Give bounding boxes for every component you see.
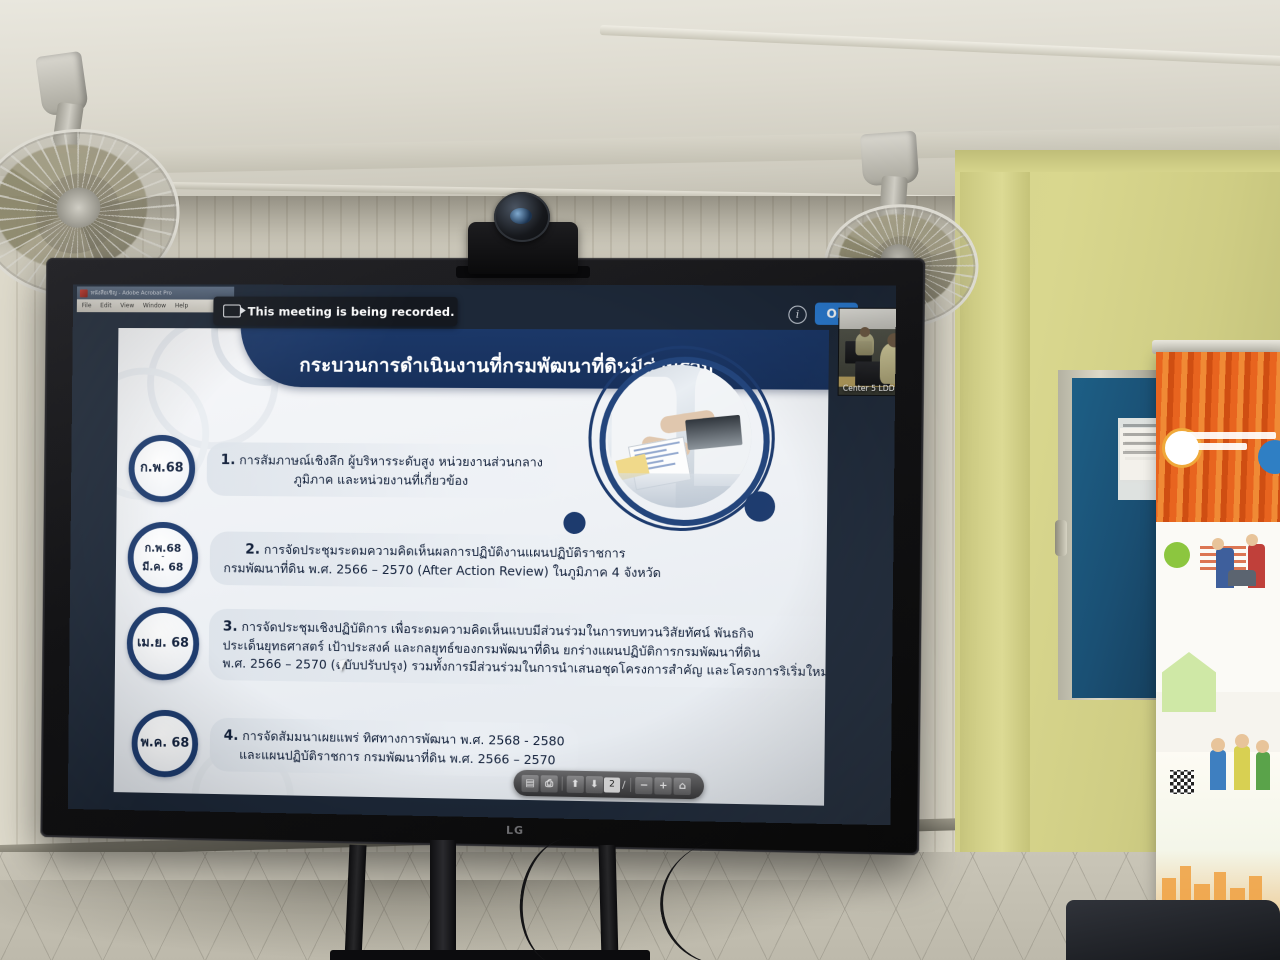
acrobat-title-bar: หนังสือเชิญ - Adobe Acrobat Pro bbox=[77, 286, 234, 299]
row-line: ภูมิภาค และหน่วยงานที่เกี่ยวข้อง bbox=[220, 470, 542, 491]
acrobat-title-text: หนังสือเชิญ - Adobe Acrobat Pro bbox=[91, 289, 172, 297]
page-number-field[interactable]: 2 bbox=[604, 777, 620, 792]
menu-item-help[interactable]: Help bbox=[175, 302, 188, 309]
camera-lens-icon bbox=[510, 208, 532, 224]
row-line: กรมพัฒนาที่ดิน พ.ศ. 2566 – 2570 (After A… bbox=[223, 559, 661, 582]
tv-screen[interactable]: หนังสือเชิญ - Adobe Acrobat Pro File Edi… bbox=[68, 285, 896, 826]
row-number: 4. bbox=[224, 728, 239, 744]
timeline-row-2: ก.พ.68 - มี.ค. 68 2. การจัดประชุมระดมควา… bbox=[127, 522, 675, 600]
banner-artwork bbox=[1156, 352, 1280, 912]
banner-figure-a-head bbox=[1212, 538, 1224, 550]
row-line-text: การสัมภาษณ์เชิงลึก ผู้บริหารระดับสูง หน่… bbox=[239, 452, 543, 469]
timeline-text-4: 4. การจัดสัมมนาเผยแพร่ ทิศทางการพัฒนา พ.… bbox=[210, 717, 579, 778]
zoom-in-button[interactable]: + bbox=[655, 777, 672, 794]
home-icon[interactable]: ⌂ bbox=[674, 777, 691, 794]
thumbnail-person-head bbox=[860, 327, 870, 337]
tv-brand-logo: LG bbox=[506, 824, 540, 838]
banner-people-graphic bbox=[1210, 732, 1272, 796]
thumbnail-projector-screen bbox=[839, 309, 896, 330]
recording-text: This meeting is being recorded. bbox=[248, 304, 455, 318]
timeline-badge-4: พ.ค. 68 bbox=[131, 709, 198, 777]
door-handle[interactable] bbox=[1055, 520, 1067, 556]
page-separator: / bbox=[622, 779, 626, 790]
banner-qr-code bbox=[1170, 770, 1194, 794]
desktop-background: หนังสือเชิญ - Adobe Acrobat Pro File Edi… bbox=[68, 285, 896, 826]
decor-dot bbox=[744, 491, 775, 522]
badge-month: พ.ค. 68 bbox=[140, 736, 189, 750]
timeline-badge-2: ก.พ.68 - มี.ค. 68 bbox=[127, 522, 198, 594]
zoom-out-button[interactable]: − bbox=[635, 776, 652, 793]
row-number: 2. bbox=[245, 541, 260, 557]
thumbnail-person-head bbox=[887, 333, 896, 347]
presentation-slide: กระบวนการดำเนินงานที่กรมพัฒนาที่ดินมีส่ว… bbox=[114, 328, 829, 806]
timeline-text-3: 3. การจัดประชุมเชิงปฏิบัติการ เพื่อระดมค… bbox=[209, 608, 830, 689]
yellow-wall-trim bbox=[955, 150, 1280, 172]
row-line-text: การจัดประชุมระดมความคิดเห็นผลการปฏิบัติง… bbox=[264, 542, 626, 561]
arrow-up-icon[interactable]: ⬆ bbox=[567, 775, 584, 792]
badge-month-end: มี.ค. 68 bbox=[142, 561, 183, 573]
timeline-row-1: ก.พ.68 1. การสัมภาษณ์เชิงลึก ผู้บริหารระ… bbox=[128, 435, 557, 506]
save-icon[interactable]: ▤ bbox=[521, 774, 538, 791]
row-line-text: การจัดสัมมนาเผยแพร่ ทิศทางการพัฒนา พ.ศ. … bbox=[242, 728, 564, 748]
timeline-row-3: เม.ย. 68 3. การจัดประชุมเชิงปฏิบัติการ เ… bbox=[126, 607, 829, 691]
menu-item-window[interactable]: Window bbox=[143, 302, 166, 309]
conference-room-scene: หนังสือเชิญ - Adobe Acrobat Pro File Edi… bbox=[0, 0, 1280, 960]
banner-green-badge bbox=[1164, 542, 1190, 568]
video-participant-label: Center 5 LDD bbox=[843, 384, 895, 393]
rollup-banner bbox=[1152, 340, 1280, 940]
television: หนังสือเชิญ - Adobe Acrobat Pro File Edi… bbox=[36, 258, 916, 858]
row-number: 1. bbox=[221, 452, 236, 468]
banner-desk bbox=[1228, 570, 1256, 586]
video-camera-icon bbox=[223, 305, 241, 318]
row-number: 3. bbox=[223, 618, 238, 634]
timeline-badge-1: ก.พ.68 bbox=[128, 435, 195, 503]
tv-stand-neck bbox=[430, 840, 456, 960]
thumbnail-person bbox=[880, 343, 896, 384]
acrobat-icon bbox=[80, 289, 88, 297]
arrow-down-icon[interactable]: ⬇ bbox=[586, 776, 603, 793]
menu-item-view[interactable]: View bbox=[120, 302, 134, 309]
timeline-row-4: พ.ค. 68 4. การจัดสัมมนาเผยแพร่ ทิศทางการ… bbox=[131, 709, 579, 784]
info-icon[interactable]: i bbox=[788, 306, 807, 324]
print-icon[interactable]: ⎙ bbox=[541, 775, 558, 792]
slide-photo bbox=[607, 365, 752, 509]
badge-month: ก.พ.68 bbox=[140, 462, 184, 476]
timeline-badge-3: เม.ย. 68 bbox=[126, 607, 199, 681]
menu-item-edit[interactable]: Edit bbox=[100, 302, 111, 309]
video-participant-thumbnail[interactable]: Center 5 LDD bbox=[838, 308, 897, 397]
banner-figure-b-head bbox=[1246, 534, 1258, 546]
row-line: 1. การสัมภาษณ์เชิงลึก ผู้บริหารระดับสูง … bbox=[221, 450, 543, 473]
pdf-floating-toolbar[interactable]: ▤ ⎙ ⬆ ⬇ 2 / − + ⌂ bbox=[513, 770, 704, 800]
timeline-text-1: 1. การสัมภาษณ์เชิงลึก ผู้บริหารระดับสูง … bbox=[207, 442, 558, 499]
recording-banner: This meeting is being recorded. bbox=[213, 297, 457, 326]
badge-month: เม.ย. 68 bbox=[137, 637, 189, 651]
chair-foreground bbox=[1066, 900, 1280, 960]
menu-item-file[interactable]: File bbox=[82, 302, 92, 309]
tv-stand-base bbox=[330, 950, 650, 960]
timeline-text-2: 2. การจัดประชุมระดมความคิดเห็นผลการปฏิบั… bbox=[210, 531, 676, 590]
